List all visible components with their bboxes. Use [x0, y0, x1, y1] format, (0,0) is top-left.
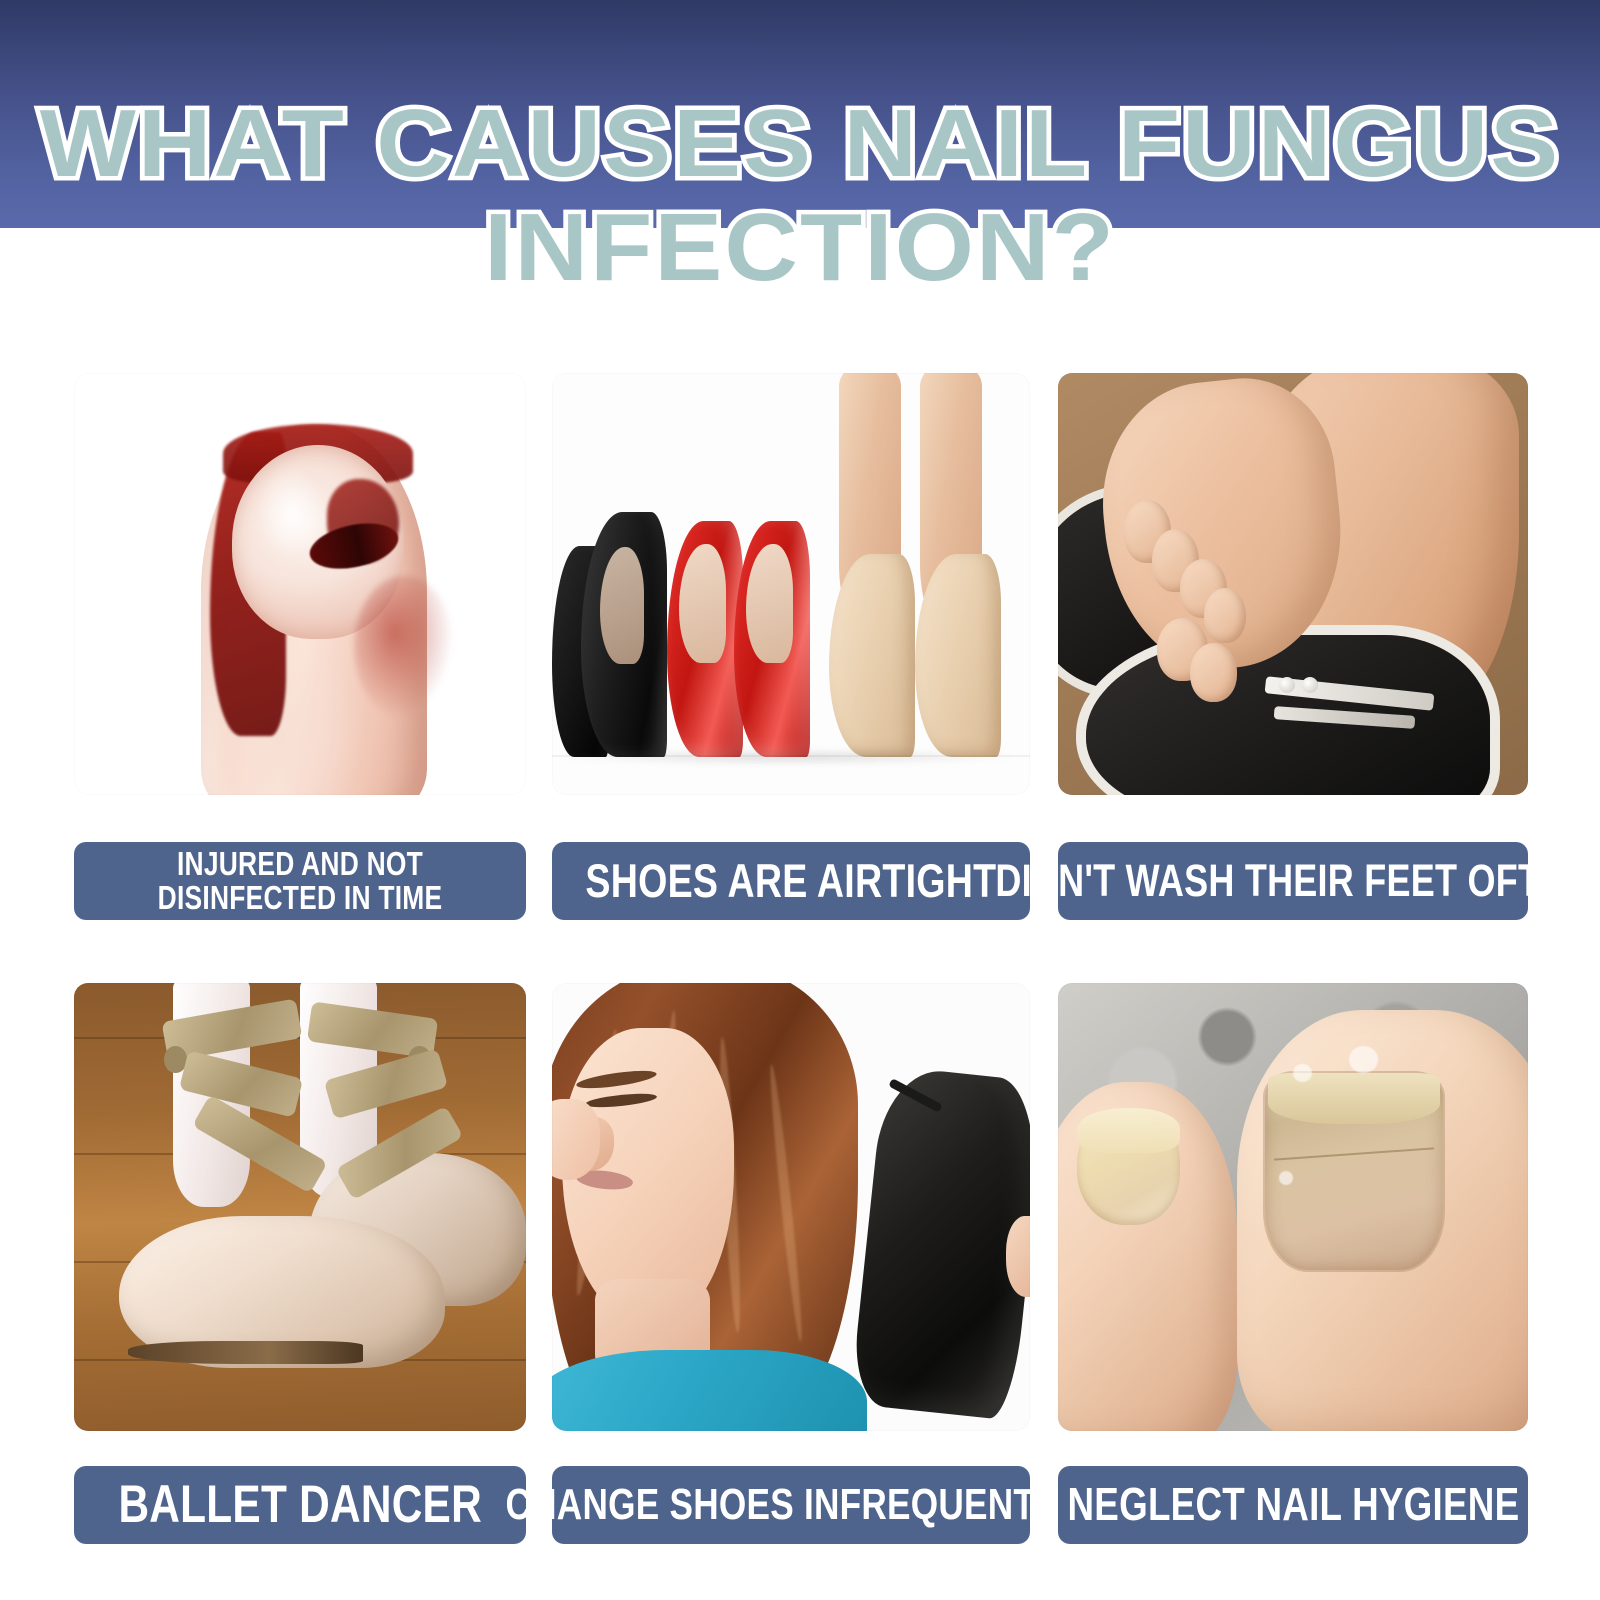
shoe-eyelet: [1279, 677, 1295, 693]
nude-pump-right: [915, 554, 1001, 757]
caption-text: BALLET DANCER: [118, 1477, 482, 1532]
second-toenail: [1077, 1108, 1180, 1224]
nail-tip: [1077, 1108, 1180, 1152]
big-toenail-infected: [1265, 1073, 1444, 1270]
card-image-neglected-nail-hygiene: [1058, 983, 1528, 1431]
card-caption-injured-nail: INJURED AND NOT DISINFECTED IN TIME: [74, 842, 526, 920]
smelly-shoe-illustration: [552, 983, 1030, 1431]
injured-nail-illustration: [74, 373, 526, 795]
card-image-unwashed-feet: [1058, 373, 1528, 795]
caption-text: CHANGE SHOES INFREQUENTLY: [505, 1482, 1077, 1528]
caption-text: INJURED AND NOT DISINFECTED IN TIME: [130, 847, 469, 914]
toe: [1190, 643, 1237, 702]
causes-grid: INJURED AND NOT DISINFECTED IN TIME SHOE…: [0, 228, 1600, 1600]
card-caption-ballet-dancer: BALLET DANCER: [74, 1466, 526, 1544]
header-banner: [0, 0, 1600, 228]
feet-on-sneakers-illustration: [1058, 373, 1528, 795]
nail-tip: [1268, 1073, 1439, 1124]
blood-smear-right: [354, 576, 453, 719]
high-heels-illustration: [552, 373, 1030, 795]
card-image-injured-nail: [74, 373, 526, 795]
caption-text: SHOES ARE AIRTIGHT: [586, 857, 997, 906]
black-leather-shoe: [850, 1065, 1030, 1421]
nail-highlight: [255, 466, 327, 559]
ballet-shoes-illustration: [74, 983, 526, 1431]
blue-shirt: [552, 1350, 867, 1431]
red-pump-right: [734, 521, 810, 757]
red-pump-left: [667, 521, 743, 757]
caption-text: NEGLECT NAIL HYGIENE: [1067, 1481, 1519, 1529]
caption-text: DIDN'T WASH THEIR FEET OFTEN: [995, 858, 1590, 905]
nude-pump-left: [829, 554, 915, 757]
pointe-shoe-sole: [128, 1341, 363, 1363]
black-pump-front: [581, 512, 667, 757]
nail-flake: [1279, 1171, 1293, 1184]
card-caption-airtight-shoes: SHOES ARE AIRTIGHT: [552, 842, 1030, 920]
card-caption-infrequent-shoe-change: CHANGE SHOES INFREQUENTLY: [552, 1466, 1030, 1544]
card-image-ballet-dancer: [74, 983, 526, 1431]
card-caption-neglected-nail-hygiene: NEGLECT NAIL HYGIENE: [1058, 1466, 1528, 1544]
card-image-airtight-shoes: [552, 373, 1030, 795]
fungal-toenails-illustration: [1058, 983, 1528, 1431]
card-image-infrequent-shoe-change: [552, 983, 1030, 1431]
card-caption-unwashed-feet: DIDN'T WASH THEIR FEET OFTEN: [1058, 842, 1528, 920]
pump-insole: [600, 547, 645, 664]
nail-flake: [1293, 1064, 1312, 1082]
floor-shadow: [562, 749, 1011, 766]
pump-insole: [679, 544, 726, 662]
nail-flake: [1349, 1046, 1377, 1073]
toe: [1204, 588, 1246, 643]
pump-insole: [746, 544, 793, 662]
